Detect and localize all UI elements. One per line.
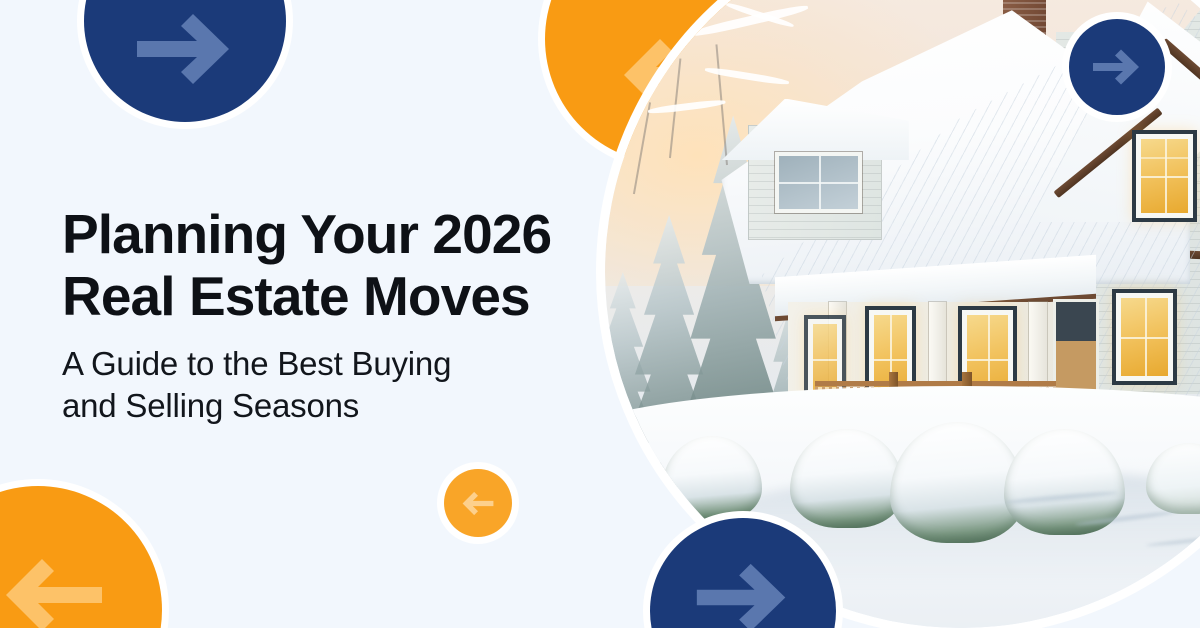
lit-window [1116,293,1173,381]
page-title: Planning Your 2026 Real Estate Moves [62,204,622,327]
circle-orange-bottom-left [0,486,162,628]
circle-navy-top-left [84,0,286,122]
arrow-right-icon [693,560,793,628]
arrow-right-icon [133,10,237,88]
headline-line-2: Real Estate Moves [62,266,622,328]
text-block: Planning Your 2026 Real Estate Moves A G… [62,204,622,428]
window-mullion [813,359,836,361]
circle-navy-top-right [1069,19,1165,115]
arrow-right-icon [1091,47,1143,87]
window-mullion [874,359,908,361]
page-subtitle: A Guide to the Best Buying and Selling S… [62,343,622,427]
dormer-window [775,152,862,214]
lit-window [1136,134,1193,218]
arrow-left-icon [0,553,110,628]
subhead-line-2: and Selling Seasons [62,385,622,427]
headline-line-1: Planning Your 2026 [62,204,622,266]
window-mullion [779,182,858,184]
arrow-left-icon [460,490,496,517]
window-mullion [967,359,1007,361]
window-mullion [1121,337,1168,339]
window-mullion [1141,157,1188,159]
window-mullion [1141,176,1188,178]
subhead-line-1: A Guide to the Best Buying [62,343,622,385]
blog-banner: Planning Your 2026 Real Estate Moves A G… [0,0,1200,628]
circle-orange-small-mid [444,469,512,537]
